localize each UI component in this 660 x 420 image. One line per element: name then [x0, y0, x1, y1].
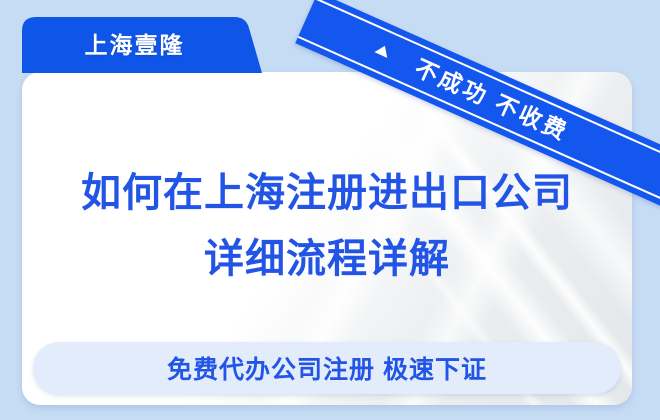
triangle-up-icon — [374, 43, 391, 58]
brand-tab-label: 上海壹隆 — [22, 17, 247, 73]
headline: 如何在上海注册进出口公司 详细流程详解 — [22, 160, 632, 292]
brand-tab[interactable]: 上海壹隆 — [22, 17, 287, 79]
cta-pill[interactable]: 免费代办公司注册 极速下证 — [33, 342, 621, 394]
headline-line-1: 如何在上海注册进出口公司 — [81, 171, 573, 215]
cta-pill-label: 免费代办公司注册 极速下证 — [167, 350, 487, 386]
promo-banner: 上海壹隆 如何在上海注册进出口公司 详细流程详解 免费代办公司注册 极速下证 不… — [0, 0, 660, 420]
headline-line-2: 详细流程详解 — [22, 226, 632, 292]
